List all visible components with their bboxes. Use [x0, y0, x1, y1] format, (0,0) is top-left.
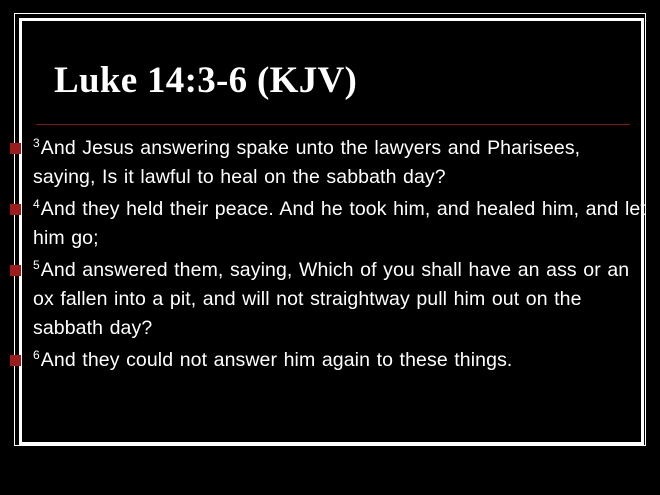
square-bullet-icon [10, 204, 21, 215]
square-bullet-icon [10, 143, 21, 154]
verse-body: 5And answered them, saying, Which of you… [33, 256, 646, 343]
verse-content: And they could not answer him again to t… [41, 349, 513, 371]
presentation-slide: Luke 14:3-6 (KJV) 3And Jesus answering s… [0, 0, 660, 495]
slide-title: Luke 14:3-6 (KJV) [54, 58, 614, 104]
title-divider-rule [36, 124, 630, 125]
list-item: 3And Jesus answering spake unto the lawy… [0, 134, 660, 192]
verse-number: 5 [33, 258, 41, 272]
verse-content: And they held their peace. And he took h… [33, 198, 646, 249]
list-item: 4And they held their peace. And he took … [0, 195, 660, 253]
verse-number: 6 [33, 348, 41, 362]
verse-body: 4And they held their peace. And he took … [33, 195, 646, 253]
square-bullet-icon [10, 355, 21, 366]
verse-number: 3 [33, 136, 41, 150]
verse-body: 3And Jesus answering spake unto the lawy… [33, 134, 646, 192]
verse-content: And answered them, saying, Which of you … [33, 259, 629, 339]
square-bullet-icon [10, 265, 21, 276]
verse-content: And Jesus answering spake unto the lawye… [33, 137, 580, 188]
list-item: 6And they could not answer him again to … [0, 346, 660, 375]
verse-list: 3And Jesus answering spake unto the lawy… [0, 134, 660, 378]
verse-number: 4 [33, 197, 41, 211]
verse-body: 6And they could not answer him again to … [33, 346, 646, 375]
list-item: 5And answered them, saying, Which of you… [0, 256, 660, 343]
